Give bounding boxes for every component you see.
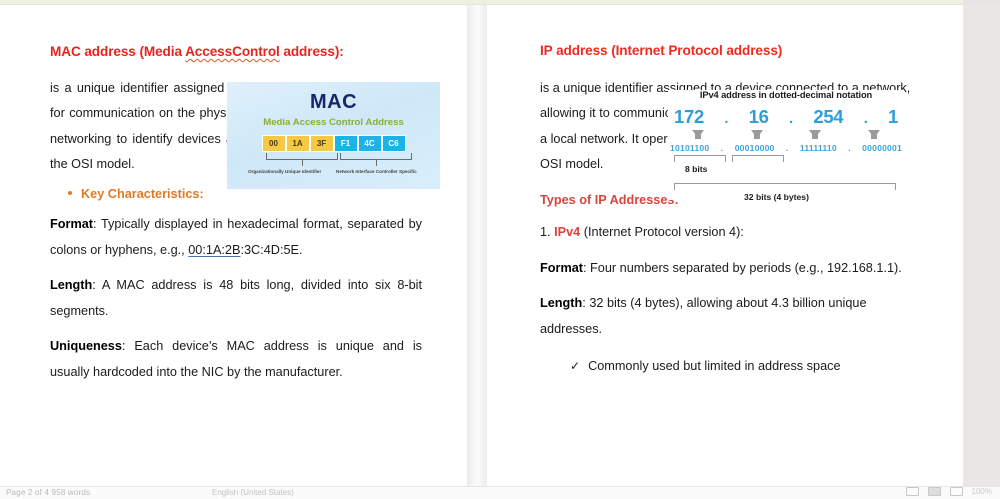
ipv4-decimal-row: 172 . 16 . 254 . 1: [668, 106, 904, 128]
page-title-ip: IP address (Internet Protocol address): [540, 44, 912, 58]
ipv4-binary-dot-3: .: [848, 143, 851, 153]
ipv4-format-text: : Four numbers separated by periods (e.g…: [583, 261, 902, 275]
status-bar: Page 2 of 4 958 words English (United St…: [0, 486, 1000, 499]
mac-octet-oui-2: 1A: [286, 135, 310, 152]
ipv4-bracket-8bits-icon-2: [732, 155, 784, 162]
page-separator: [467, 5, 487, 486]
ipv4-decimal-octet-2: 16: [749, 106, 769, 128]
document-page-left: MAC address (Media AccessControl address…: [0, 5, 467, 486]
ipv4-dot-1: .: [724, 110, 728, 127]
right-scroll-rail[interactable]: [963, 5, 1000, 499]
arrow-stem-3: [812, 133, 818, 139]
ipv4-list-number: 1.: [540, 225, 551, 239]
ipv4-format-item: Format: Four numbers separated by period…: [540, 256, 912, 282]
status-language[interactable]: English (United States): [212, 488, 294, 497]
ipv4-decimal-octet-3: 254: [813, 106, 843, 128]
ipv4-format-label: Format: [540, 261, 583, 275]
mac-brace-group: [227, 153, 440, 166]
mac-caption-nic: Network Interface Controller Specific: [336, 169, 417, 174]
ipv4-binary-octet-4: 00000001: [862, 143, 902, 153]
arrow-stem-4: [871, 133, 877, 139]
ipv4-dot-3: .: [864, 110, 868, 127]
ipv4-diagram-title: IPv4 address in dotted-decimal notation: [668, 90, 904, 100]
mac-example-prefix: 00:1A:2B: [188, 243, 240, 257]
page-title-mac: MAC address (Media AccessControl address…: [50, 45, 422, 59]
ipv4-list-rest: (Internet Protocol version 4):: [580, 225, 744, 239]
ipv4-check-item: ✓ Commonly used but limited in address s…: [570, 360, 912, 373]
down-arrow-icon-2: [751, 130, 763, 138]
mac-octet-nic-3: C6: [382, 135, 406, 152]
checkmark-icon: ✓: [570, 360, 580, 372]
ipv4-binary-dot-1: .: [721, 143, 724, 153]
ipv4-accent: IPv4: [554, 225, 580, 239]
ipv4-bracket-8bits-icon-1: [674, 155, 726, 162]
ipv4-binary-octet-3: 11111110: [800, 143, 837, 153]
mac-length-text: : A MAC address is 48 bits long, divided…: [50, 278, 422, 318]
arrow-stem-1: [695, 133, 701, 139]
bullet-dot-icon: [68, 191, 72, 195]
ipv4-decimal-octet-1: 172: [674, 106, 704, 128]
document-canvas: MAC address (Media AccessControl address…: [0, 5, 963, 486]
ipv4-dotted-decimal-diagram: IPv4 address in dotted-decimal notation …: [668, 90, 904, 200]
mac-octet-nic-2: 4C: [358, 135, 382, 152]
mac-caption-group: Organizationally Unique Identifier Netwo…: [227, 169, 440, 181]
mac-uniqueness-label: Uniqueness: [50, 339, 122, 353]
mac-length-item: Length: A MAC address is 48 bits long, d…: [50, 273, 422, 324]
ipv4-arrow-row: [668, 130, 904, 138]
down-arrow-icon-1: [692, 130, 704, 138]
web-layout-icon[interactable]: [950, 487, 963, 496]
mac-address-diagram: MAC Media Access Control Address 00 1A 3…: [227, 82, 440, 189]
ipv4-decimal-octet-4: 1: [888, 106, 898, 128]
mac-octet-oui-1: 00: [262, 135, 286, 152]
ipv4-binary-octet-1: 10101100: [670, 143, 709, 153]
mac-octet-nic-1: F1: [334, 135, 358, 152]
mac-brace-oui-icon: [266, 153, 338, 160]
ipv4-bracket-32bits-icon: [674, 183, 896, 190]
zoom-level-label[interactable]: 100%: [972, 487, 992, 496]
mac-tick-nic-icon: [376, 160, 377, 166]
heading-misspelled-word: AccessControl: [185, 44, 280, 59]
key-characteristics-label: Key Characteristics:: [81, 188, 204, 201]
status-page-word-count[interactable]: Page 2 of 4 958 words: [6, 488, 90, 497]
ipv4-binary-octet-2: 00010000: [735, 143, 775, 153]
down-arrow-icon-3: [809, 130, 821, 138]
heading-prefix: MAC address (Media: [50, 44, 185, 59]
mac-uniqueness-item: Uniqueness: Each device’s MAC address is…: [50, 334, 422, 385]
ipv4-length-label: Length: [540, 296, 582, 310]
mac-diagram-subtitle: Media Access Control Address: [227, 117, 440, 128]
mac-octet-row: 00 1A 3F F1 4C C6: [227, 135, 440, 152]
mac-format-text-2: :3C:4D:5E.: [240, 243, 302, 257]
mac-diagram-title: MAC: [227, 91, 440, 114]
mac-length-label: Length: [50, 278, 92, 292]
ipv4-measure-group: 8 bits 32 bits (4 bytes): [668, 155, 904, 207]
ipv4-list-item: 1. IPv4 (Internet Protocol version 4):: [540, 220, 912, 246]
document-viewport: MAC address (Media AccessControl address…: [0, 0, 1000, 499]
mac-octet-oui-3: 3F: [310, 135, 334, 152]
ipv4-length-item: Length: 32 bits (4 bytes), allowing abou…: [540, 291, 912, 342]
ipv4-label-8-bits: 8 bits: [685, 164, 707, 174]
document-page-right: IP address (Internet Protocol address) i…: [487, 5, 963, 486]
mac-brace-nic-icon: [340, 153, 412, 160]
down-arrow-icon-4: [868, 130, 880, 138]
ipv4-binary-dot-2: .: [786, 143, 789, 153]
ipv4-binary-row: 10101100 . 00010000 . 11111110 . 0000000…: [668, 143, 904, 153]
mac-format-label: Format: [50, 217, 93, 231]
read-mode-icon[interactable]: [906, 487, 919, 496]
print-layout-icon[interactable]: [928, 487, 941, 496]
ipv4-label-32-bits: 32 bits (4 bytes): [744, 192, 809, 202]
mac-caption-oui: Organizationally Unique Identifier: [248, 169, 321, 174]
arrow-stem-2: [754, 133, 760, 139]
heading-suffix: address):: [280, 44, 344, 59]
mac-format-item: Format: Typically displayed in hexadecim…: [50, 212, 422, 263]
ipv4-check-text: Commonly used but limited in address spa…: [588, 360, 840, 373]
mac-tick-oui-icon: [302, 160, 303, 166]
key-characteristics-bullet: Key Characteristics:: [68, 188, 422, 201]
ipv4-length-text: : 32 bits (4 bytes), allowing about 4.3 …: [540, 296, 867, 336]
ipv4-dot-2: .: [789, 110, 793, 127]
status-view-controls: 100%: [906, 487, 992, 496]
